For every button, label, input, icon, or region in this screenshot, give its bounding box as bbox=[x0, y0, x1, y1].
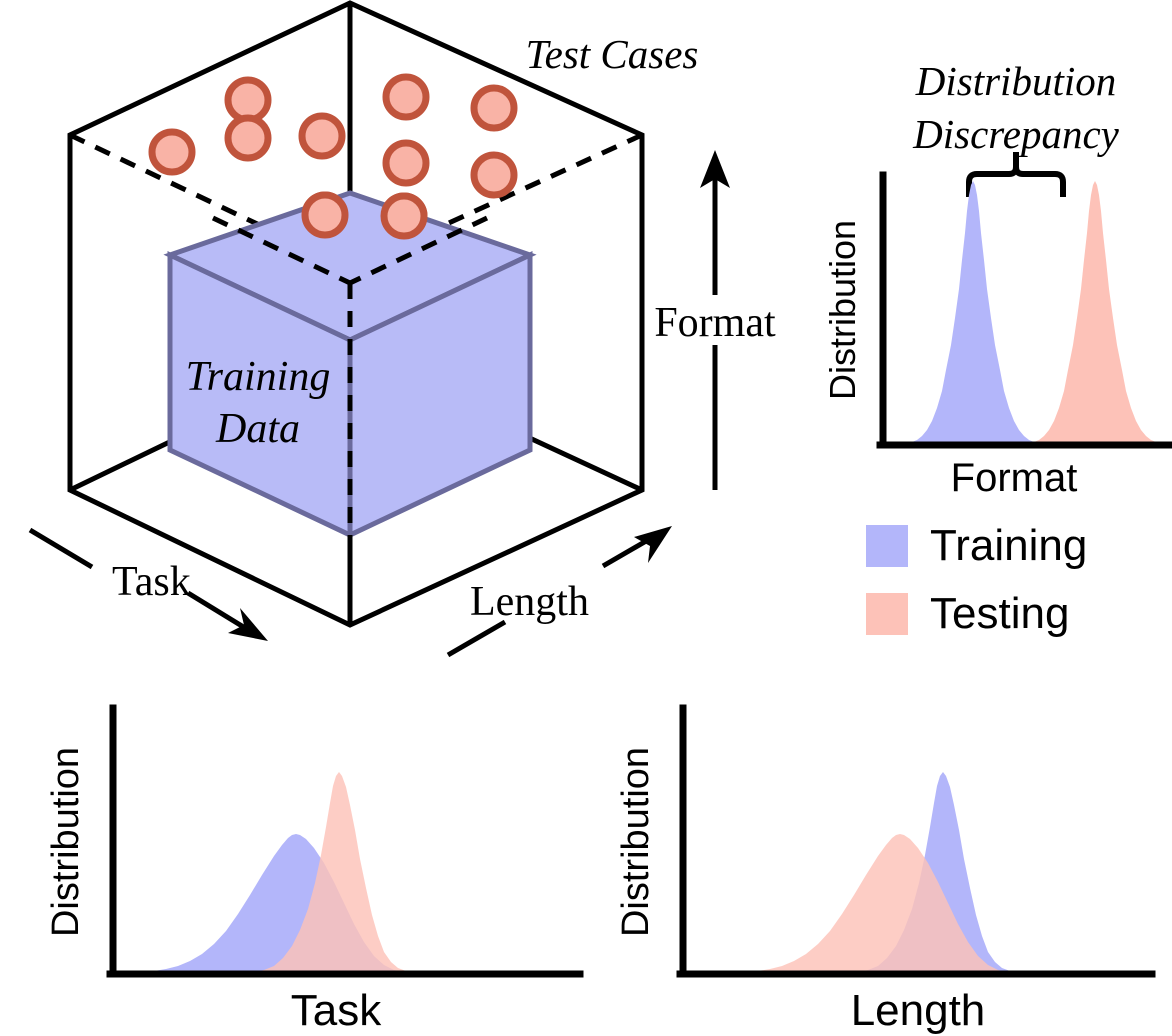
length-axis-label: Length bbox=[470, 579, 589, 625]
task-arrowhead bbox=[228, 608, 268, 641]
test-case-dot bbox=[386, 143, 426, 183]
test-case-dot bbox=[302, 116, 342, 156]
format-distributions bbox=[908, 181, 1160, 443]
length-distributions bbox=[734, 772, 1032, 973]
test-case-dot bbox=[228, 80, 268, 120]
discrepancy-brace bbox=[969, 152, 1063, 197]
chart-format: Distribution Discrepancy Format Distribu… bbox=[820, 30, 1172, 500]
test-case-dot bbox=[152, 132, 192, 172]
task-xaxis-label: Task bbox=[291, 986, 382, 1035]
format-xaxis-label: Format bbox=[951, 456, 1078, 500]
discrepancy-label-line1: Distribution bbox=[915, 58, 1116, 104]
legend-item-testing: Testing bbox=[866, 592, 1172, 636]
legend-swatch-testing bbox=[866, 593, 908, 635]
test-case-dot bbox=[474, 88, 514, 128]
task-axis-label: Task bbox=[112, 559, 191, 605]
length-xaxis-label: Length bbox=[851, 986, 986, 1035]
chart-length: Length Distribution bbox=[600, 690, 1172, 1036]
figure-canvas: Training Data Test Cases Format Task Len… bbox=[0, 0, 1172, 1036]
legend: Training Testing bbox=[866, 524, 1172, 636]
testing-curve bbox=[1030, 181, 1160, 443]
legend-label-training: Training bbox=[930, 524, 1087, 568]
test-case-dot bbox=[474, 155, 514, 195]
test-cases-title: Test Cases bbox=[526, 31, 699, 77]
training-curve-real bbox=[908, 181, 1038, 443]
cube-diagram: Training Data Test Cases Format Task Len… bbox=[0, 0, 840, 690]
length-yaxis-label: Distribution bbox=[615, 747, 657, 937]
chart-task: Task Distribution bbox=[30, 690, 600, 1036]
test-case-dot bbox=[384, 196, 424, 236]
task-distributions bbox=[130, 772, 428, 973]
legend-label-testing: Testing bbox=[930, 592, 1069, 636]
legend-swatch-training bbox=[866, 525, 908, 567]
test-case-dot bbox=[305, 195, 345, 235]
format-yaxis-label: Distribution bbox=[822, 220, 863, 400]
test-case-dot bbox=[386, 77, 426, 117]
format-axis-label: Format bbox=[654, 300, 776, 346]
training-data-label-line1: Training bbox=[186, 354, 331, 400]
discrepancy-label-line2: Discrepancy bbox=[912, 111, 1119, 157]
test-case-dot bbox=[228, 118, 268, 158]
training-data-label-line2: Data bbox=[215, 406, 300, 452]
task-yaxis-label: Distribution bbox=[45, 747, 87, 937]
legend-item-training: Training bbox=[866, 524, 1172, 568]
